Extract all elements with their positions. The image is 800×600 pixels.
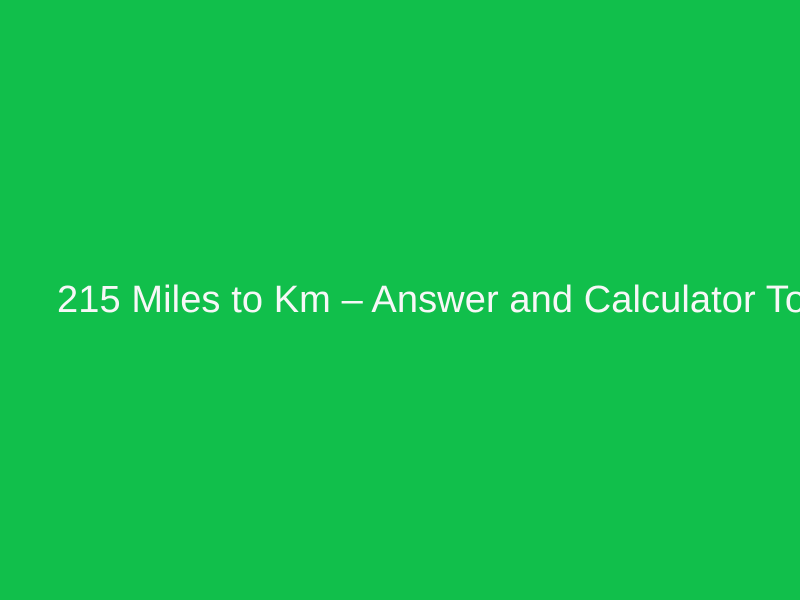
page-title: 215 Miles to Km – Answer and Calculator … — [57, 277, 800, 323]
share-card: 215 Miles to Km – Answer and Calculator … — [0, 0, 800, 600]
